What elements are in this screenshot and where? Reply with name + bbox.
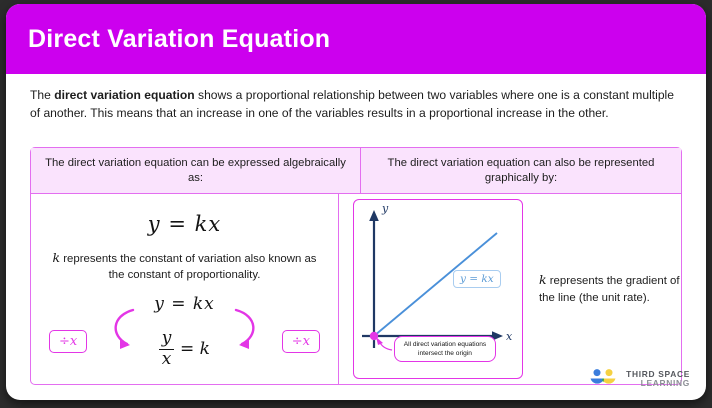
origin-callout: All direct variation equations intersect… (394, 336, 496, 362)
lesson-card: Direct Variation Equation The direct var… (6, 4, 706, 400)
third-space-learning-mark-icon (589, 368, 619, 390)
divide-by-x-box-right: ÷x (282, 330, 320, 353)
x-axis-label: x (506, 330, 513, 343)
brand-name-line2: LEARNING (626, 379, 690, 388)
gradient-note: k represents the gradient of the line (t… (539, 272, 681, 306)
constant-symbol-k: k (52, 250, 60, 265)
curved-arrow-left-icon (103, 306, 143, 352)
table-body-row: y = kx k represents the constant of vari… (31, 194, 681, 384)
table-header-graphical: The direct variation equation can also b… (361, 148, 681, 193)
brand-logo: THIRD SPACE LEARNING (589, 368, 690, 390)
table-cell-graphical: y x y = kx All direct variation equation… (339, 194, 681, 384)
fraction-denominator: x (162, 351, 172, 369)
comparison-table: The direct variation equation can be exp… (30, 147, 682, 385)
fraction-numerator: y (162, 330, 172, 348)
callout-pointer-head (376, 337, 383, 345)
intro-paragraph: The direct variation equation shows a pr… (6, 74, 706, 122)
divide-by-x-box-left: ÷x (49, 330, 87, 353)
derivation-equation-top: y = kx (31, 294, 338, 314)
intro-bold-term: direct variation equation (54, 88, 194, 102)
main-equation: y = kx (31, 212, 338, 236)
equation-description-text: represents the constant of variation als… (60, 253, 316, 281)
gradient-symbol-k: k (539, 272, 547, 287)
derivation-block: y = kx y x = k ÷x ÷x (31, 294, 338, 394)
fraction-equals-k: = k (180, 339, 210, 359)
page-header: Direct Variation Equation (6, 4, 706, 74)
page-title: Direct Variation Equation (28, 25, 330, 54)
curved-arrow-right-icon (226, 306, 266, 352)
y-axis-arrowhead (369, 210, 379, 221)
equation-description: k represents the constant of variation a… (31, 236, 338, 283)
line-equation-label: y = kx (453, 270, 501, 288)
table-header-algebraic: The direct variation equation can be exp… (31, 148, 361, 193)
table-header-row: The direct variation equation can be exp… (31, 148, 681, 194)
table-cell-algebraic: y = kx k represents the constant of vari… (31, 194, 339, 384)
fraction-stack: y x (159, 330, 174, 369)
gradient-note-text: represents the gradient of the line (the… (539, 275, 680, 304)
graph-panel: y x y = kx All direct variation equation… (353, 199, 523, 379)
brand-logo-text: THIRD SPACE LEARNING (626, 370, 690, 389)
intro-text-part1: The (30, 88, 54, 102)
y-axis-label: y (381, 202, 389, 215)
